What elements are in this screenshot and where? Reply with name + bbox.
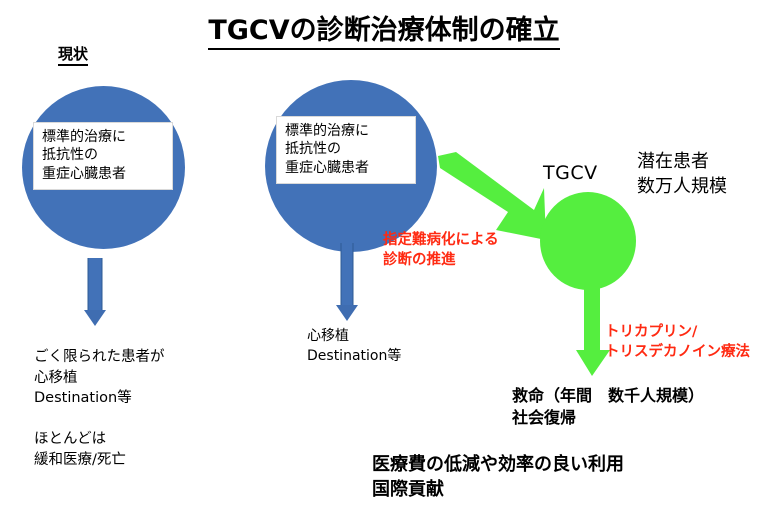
current-outcome-limited-text: ごく限られた患者が 心移植 Destination等	[34, 347, 165, 409]
arrow-head	[336, 305, 358, 321]
current-outcome-most-text: ほとんどは 緩和医療/死亡	[34, 429, 126, 470]
arrow-down-icon	[80, 258, 110, 326]
arrow-diagonal-down-right-icon	[438, 152, 548, 242]
arrow-shaft	[88, 258, 103, 311]
current-state-patient-label: 標準的治療に 抵抗性の 重症心臓患者	[33, 122, 173, 190]
future-outcome-transplant-text: 心移植 Destination等	[307, 327, 401, 367]
slide-canvas: TGCVの診断治療体制の確立 現状 標準的治療に 抵抗性の 重症心臓患者 ごく限…	[0, 0, 768, 515]
arrow-diagonal-shape	[438, 152, 546, 240]
therapy-annotation-text: トリカプリン/ トリスデカノイン療法	[605, 322, 750, 363]
arrow-head	[84, 310, 106, 326]
potential-patients-text: 潜在患者 数万人規模	[637, 150, 727, 200]
tgcv-circle	[540, 192, 636, 290]
arrow-down-icon	[333, 243, 361, 321]
diagnosis-annotation-text: 指定難病化による 診断の推進	[383, 230, 499, 271]
page-title-text: TGCVの診断治療体制の確立	[208, 15, 559, 50]
rescue-outcome-text: 救命（年間 数千人規模） 社会復帰	[512, 385, 704, 429]
conclusion-text: 医療費の低減や効率の良い利用 国際貢献	[372, 452, 624, 502]
current-state-heading: 現状	[58, 43, 88, 64]
current-state-heading-text: 現状	[58, 45, 88, 66]
tgcv-label: TGCV	[543, 162, 598, 184]
page-title: TGCVの診断治療体制の確立	[0, 8, 768, 47]
future-state-patient-label: 標準的治療に 抵抗性の 重症心臓患者	[276, 116, 416, 184]
arrow-shaft	[341, 243, 354, 306]
